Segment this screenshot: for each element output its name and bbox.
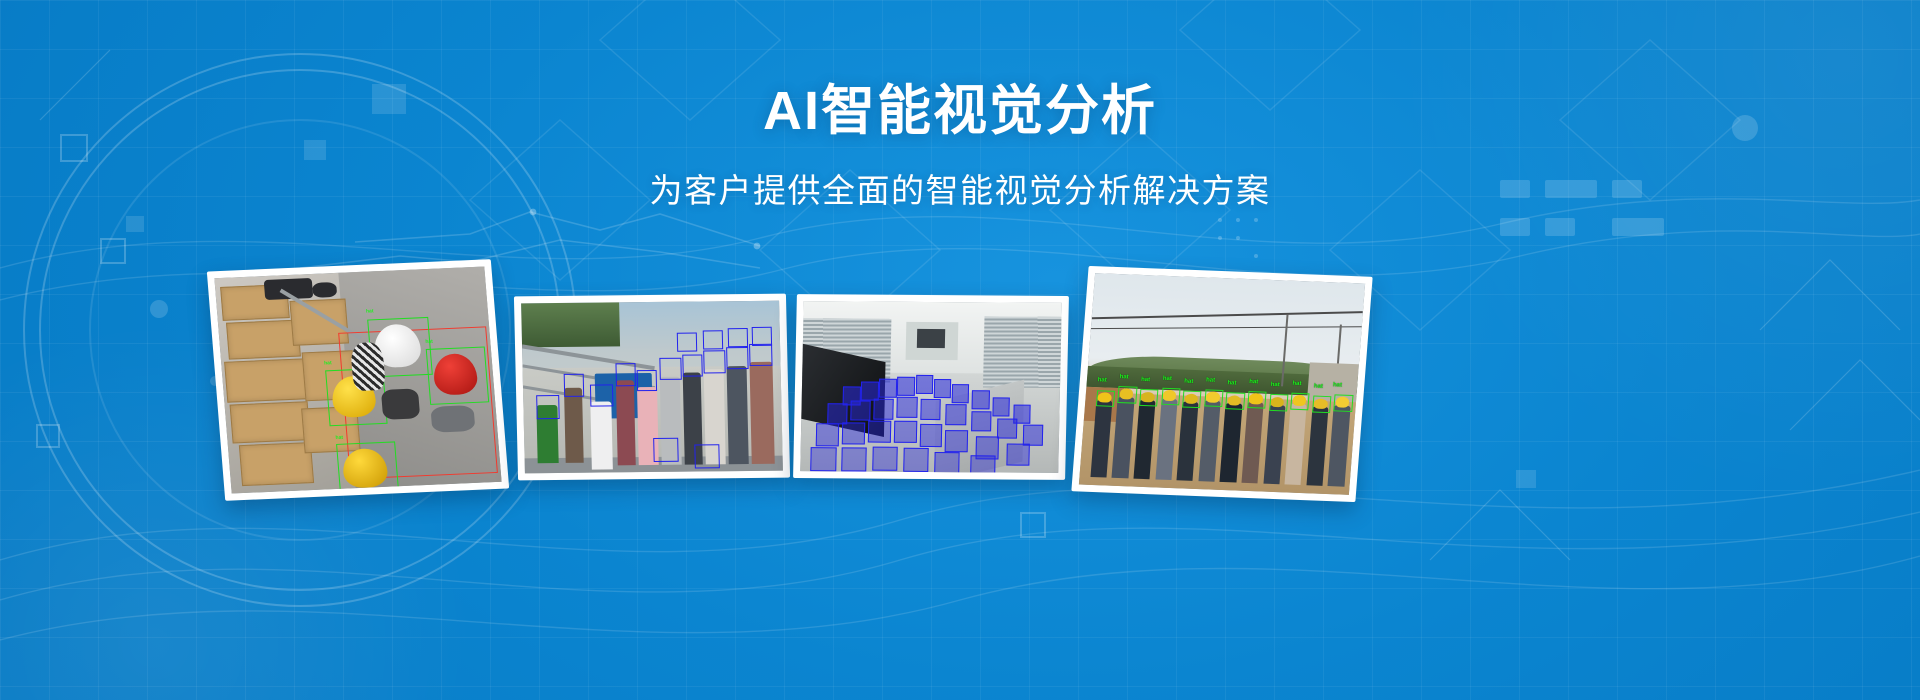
- power-line: [1091, 326, 1362, 329]
- detection-box: [728, 328, 748, 347]
- detection-label: hat: [1249, 379, 1258, 385]
- worker-torso: [380, 388, 420, 420]
- detection-box: [695, 444, 721, 468]
- detection-box: [816, 424, 839, 447]
- detection-label: hat: [1184, 378, 1193, 384]
- detection-box: [749, 343, 772, 366]
- detection-box: [933, 379, 951, 398]
- detection-label: hat: [1270, 382, 1279, 388]
- detection-box: [1269, 394, 1288, 411]
- detection-box: [946, 404, 966, 425]
- detection-label: hat: [335, 435, 343, 441]
- detection-box: [1023, 425, 1043, 446]
- detection-box: [850, 400, 870, 421]
- photo-frame: [521, 301, 783, 474]
- photo-frame: [800, 301, 1062, 473]
- detection-box: [703, 351, 726, 374]
- person: [616, 380, 636, 465]
- scene-footbridge: [521, 301, 783, 474]
- detection-box: [811, 447, 837, 471]
- detection-box: [827, 403, 847, 424]
- detection-box: [1118, 386, 1137, 403]
- detection-box: [842, 422, 865, 445]
- detection-label: hat: [1206, 377, 1215, 383]
- louver-wall: [983, 316, 1062, 388]
- detection-box: [1182, 391, 1201, 408]
- detection-label: hat: [1119, 374, 1128, 380]
- person: [564, 388, 584, 463]
- detection-box: [536, 395, 559, 419]
- scene-station-concourse: [800, 301, 1062, 473]
- detection-box: [894, 421, 917, 444]
- detection-box: [868, 421, 891, 444]
- detection-label: hat: [425, 339, 433, 345]
- detection-box: [615, 363, 636, 386]
- carton: [226, 320, 301, 360]
- tree-line: [521, 302, 620, 347]
- detection-box: [653, 438, 679, 462]
- detection-box: [1139, 389, 1158, 406]
- detection-label: hat: [1141, 377, 1150, 383]
- detection-label: hat: [1163, 375, 1172, 381]
- detection-box: [879, 378, 897, 397]
- detection-box: [920, 399, 940, 420]
- page-title: AI智能视觉分析: [0, 80, 1920, 144]
- detection-box: [872, 446, 898, 470]
- detection-box: [997, 418, 1017, 439]
- detection-box: [841, 448, 867, 472]
- detection-box: [702, 330, 722, 349]
- image-gallery: hat hat hat hat: [0, 255, 1920, 525]
- detection-box: [1247, 391, 1266, 408]
- page-subtitle: 为客户提供全面的智能视觉分析解决方案: [0, 170, 1920, 213]
- detection-box: [1204, 390, 1223, 407]
- photo-frame: hat hat hat hat hat hat: [1079, 273, 1365, 495]
- hero-banner: AI智能视觉分析 为客户提供全面的智能视觉分析解决方案: [0, 0, 1920, 700]
- detection-box: [971, 411, 991, 432]
- detection-label: hat: [1097, 377, 1106, 383]
- detection-label: hat: [1227, 380, 1236, 386]
- detection-box: [751, 326, 771, 345]
- detection-box: [682, 354, 703, 377]
- display-screen: [916, 329, 945, 348]
- detection-box: [1225, 393, 1244, 410]
- detection-box: [903, 448, 929, 472]
- detection-label: hat: [1314, 383, 1323, 389]
- detection-box: [915, 375, 933, 394]
- detection-box: [897, 377, 915, 396]
- person: [749, 362, 775, 464]
- detection-box: [945, 430, 968, 453]
- detection-box: [677, 332, 697, 351]
- detection-label: hat: [366, 308, 374, 314]
- detection-box: [1290, 393, 1309, 410]
- scene-outdoor-assembly: hat hat hat hat hat hat: [1079, 273, 1365, 495]
- detection-box: [659, 358, 682, 381]
- worker-headscarf: [350, 342, 386, 391]
- detection-box: [590, 384, 613, 407]
- detection-box: [1096, 390, 1115, 407]
- detection-box: [1007, 444, 1030, 467]
- person: [726, 366, 749, 465]
- detection-box: [934, 452, 960, 473]
- detection-box: [636, 370, 657, 391]
- detection-box: [970, 455, 996, 473]
- detection-box: [992, 398, 1010, 417]
- worker-torso: [431, 405, 476, 433]
- gallery-photo-outdoor-group[interactable]: hat hat hat hat hat hat: [1071, 266, 1372, 502]
- detection-label: hat: [324, 361, 332, 367]
- equipment: [312, 282, 338, 298]
- detection-box: [726, 347, 749, 370]
- gallery-photo-station-crowd[interactable]: [793, 294, 1069, 480]
- power-line: [1092, 311, 1363, 319]
- detection-box: [874, 398, 894, 419]
- carton: [224, 358, 310, 402]
- carton: [230, 402, 311, 444]
- photo-frame: hat hat hat hat: [214, 266, 501, 493]
- detection-box: [951, 384, 969, 403]
- detection-label: hat: [1333, 382, 1342, 388]
- detection-label: hat: [1292, 380, 1301, 386]
- detection-box: [1312, 396, 1331, 413]
- gallery-photo-bridge-crowd[interactable]: [514, 294, 790, 481]
- detection-box: [972, 391, 990, 410]
- gallery-photo-helmet-warehouse[interactable]: hat hat hat hat: [207, 259, 509, 501]
- detection-box: [897, 397, 917, 418]
- person: [590, 401, 612, 469]
- detection-box: [1334, 395, 1353, 412]
- detection-box: [426, 346, 489, 404]
- detection-box: [919, 424, 942, 447]
- detection-box: [336, 441, 398, 491]
- detection-box: [1161, 388, 1180, 405]
- scene-warehouse: hat hat hat hat: [214, 266, 501, 493]
- hero-copy: AI智能视觉分析 为客户提供全面的智能视觉分析解决方案: [0, 80, 1920, 213]
- detection-box: [564, 374, 585, 397]
- carton: [239, 443, 314, 487]
- deco-square-filled: [126, 216, 144, 232]
